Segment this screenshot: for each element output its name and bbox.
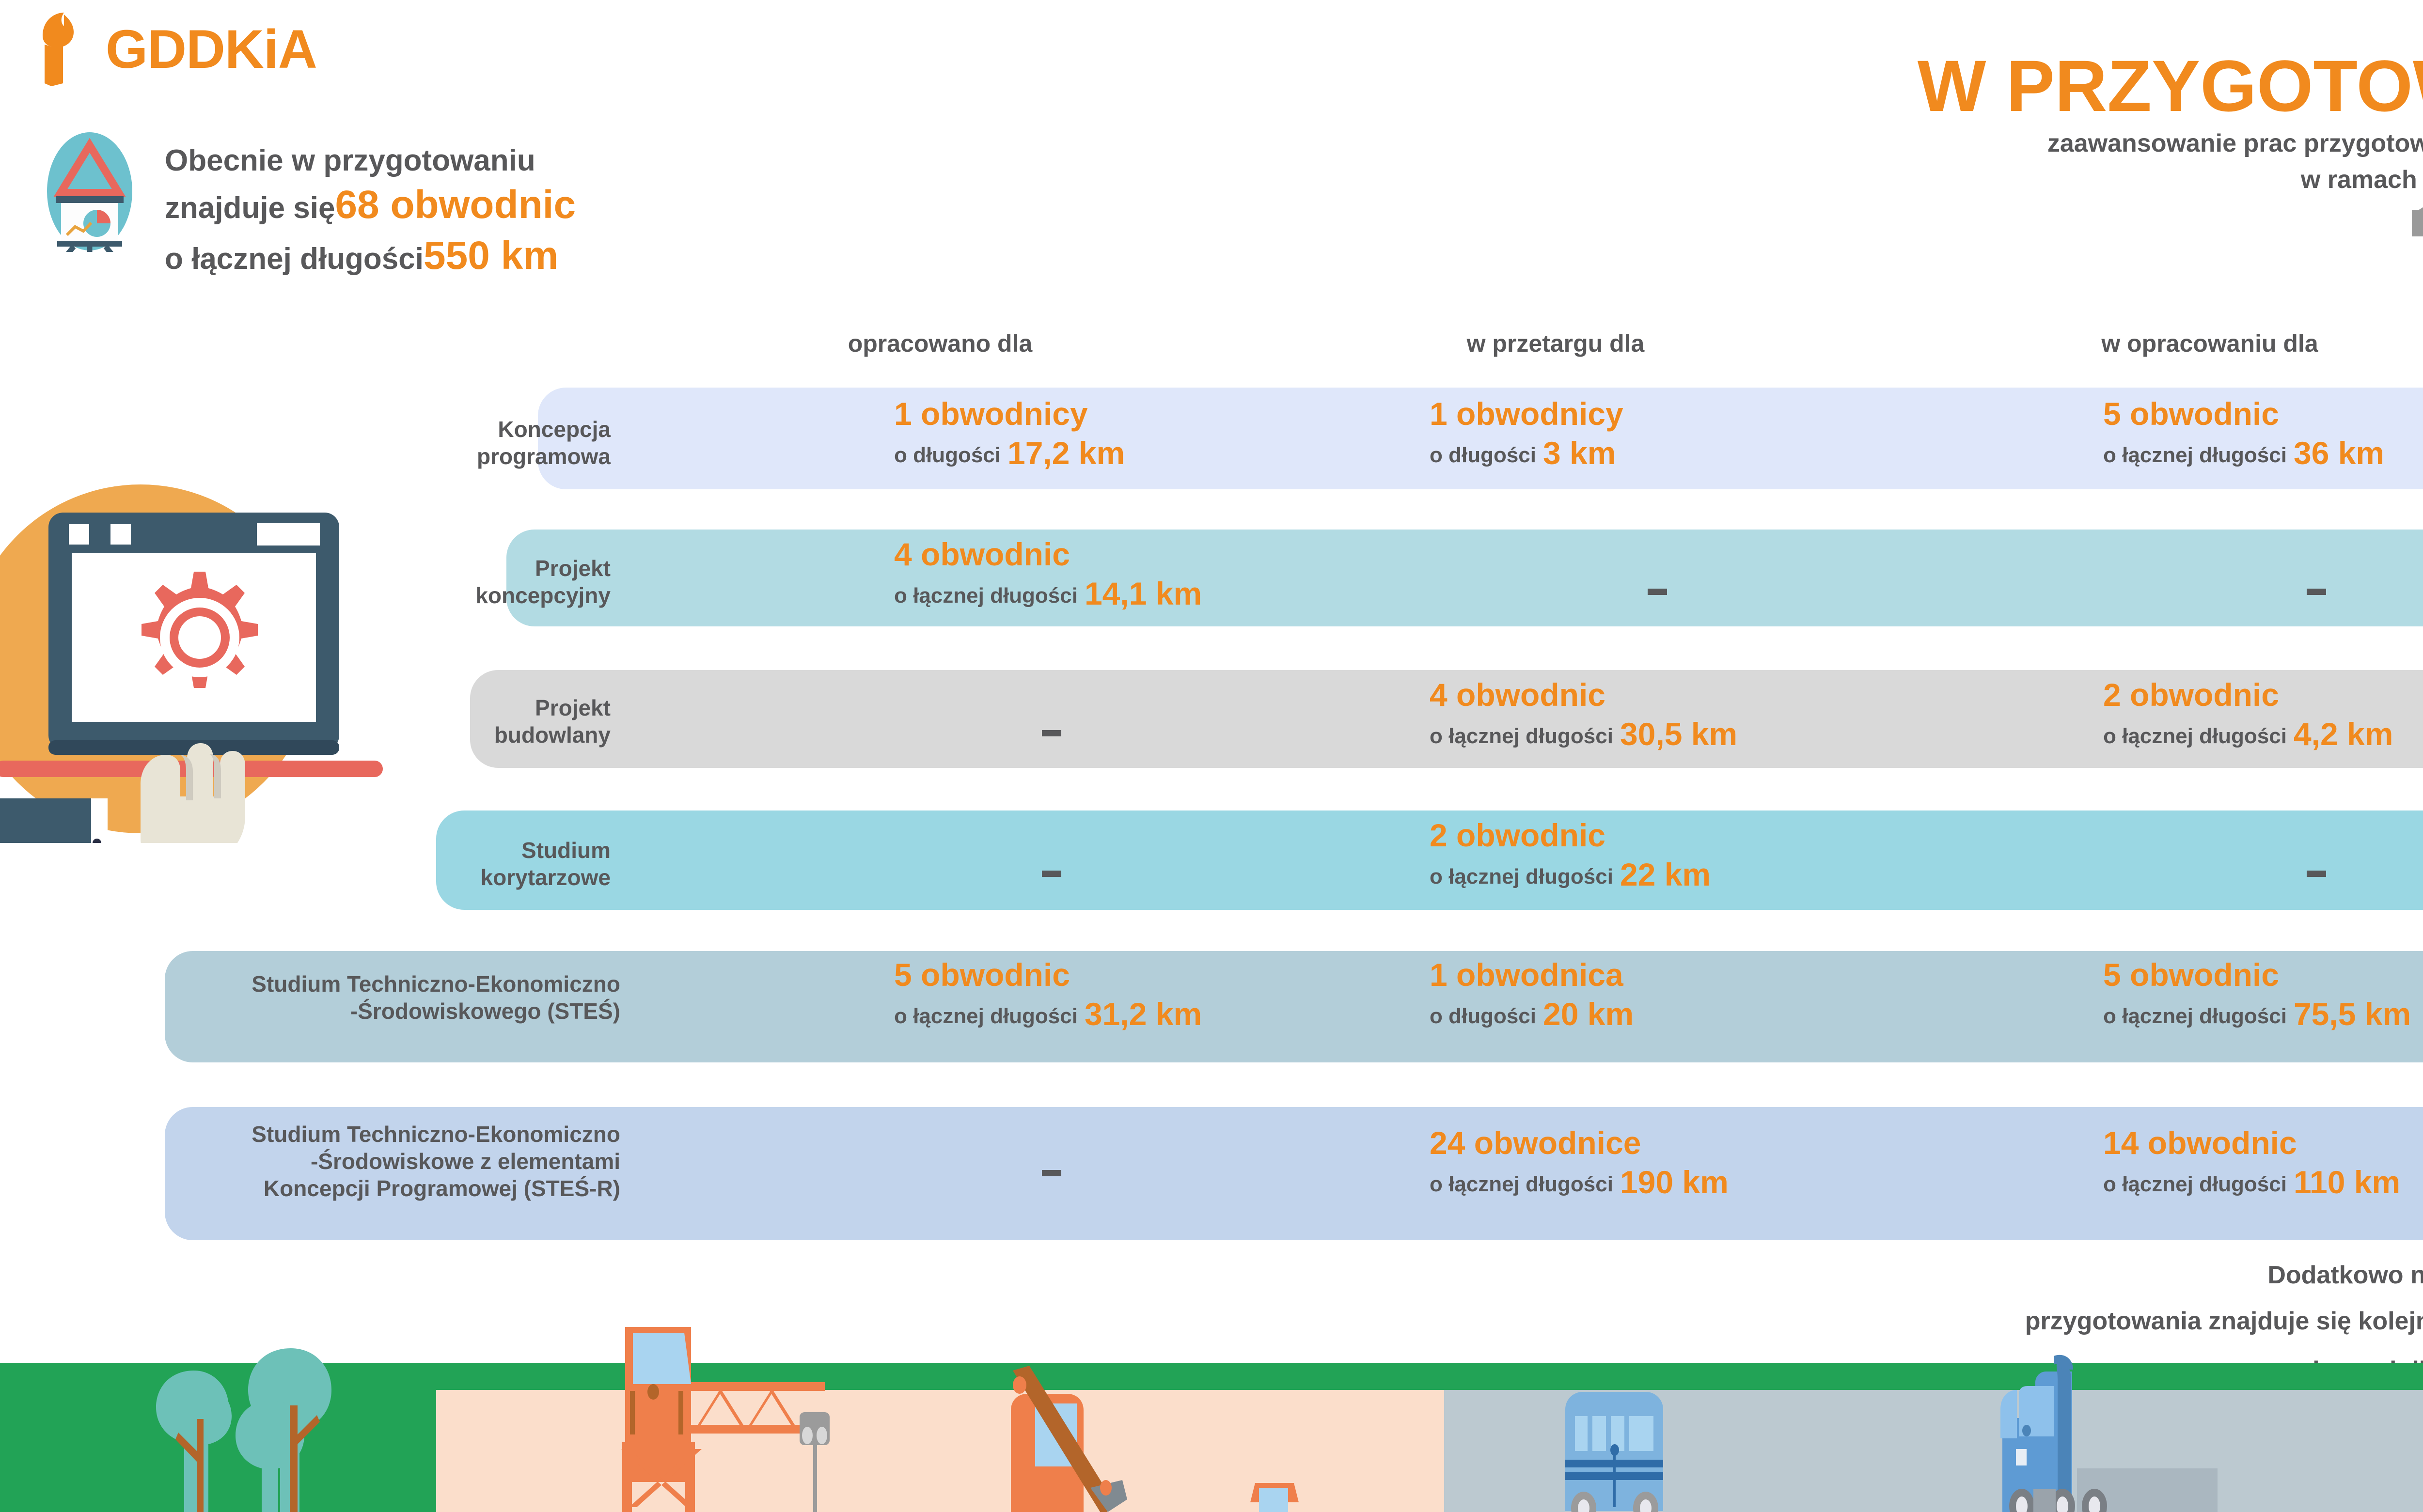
- row-label-stes: Studium Techniczno-Ekonomiczno-Środowisk…: [136, 970, 620, 1025]
- cell-r4c1-empty-dash: [1042, 871, 1061, 877]
- cell-count: 4 obwodnic: [1430, 678, 1737, 712]
- row-label-koncepcja-programowa: Koncepcjaprogramowa: [417, 416, 611, 470]
- cell-count: 5 obwodnic: [894, 958, 1202, 992]
- intro-text-1: Obecnie w przygotowaniu: [165, 144, 535, 177]
- cell-length: o długości17,2 km: [894, 436, 1125, 470]
- presentation-chart-icon: [29, 131, 150, 252]
- footnote-text-1: Dodatkowo na wczesnym etapie: [2267, 1261, 2423, 1289]
- cell-r6c3: 14 obwodnic o łącznej długości110 km: [2103, 1126, 2400, 1200]
- gddkia-eagle-icon: [34, 11, 92, 88]
- cell-count: 1 obwodnicy: [894, 397, 1125, 431]
- cell-count: 5 obwodnic: [2103, 397, 2384, 431]
- cell-length: o łącznej długości30,5 km: [1430, 717, 1737, 751]
- intro-line-3: o łącznej długości 550 km: [165, 231, 576, 281]
- cell-r5c2: 1 obwodnica o długości20 km: [1430, 958, 1634, 1031]
- cell-count: 1 obwodnicy: [1430, 397, 1623, 431]
- bus-icon: [1565, 1392, 1663, 1512]
- title-sub-line-1: zaawansowanie prac przygotowawczych dla …: [1918, 128, 2423, 159]
- intro-line-2: znajduje się 68 obwodnic: [165, 180, 576, 231]
- cell-r2c2-empty-dash: [1648, 589, 1667, 595]
- row-label-studium-korytarzowe: Studiumkorytarzowe: [417, 837, 611, 891]
- one-hundred-icon: [2409, 203, 2423, 238]
- cell-count: 5 obwodnic: [2103, 958, 2411, 992]
- column-header-opracowaniu: w opracowaniu dla: [2016, 329, 2404, 358]
- page-title: ZADANIA W PRZYGOTOWANIU zaawansowanie pr…: [1918, 5, 2423, 238]
- cell-count: 14 obwodnic: [2103, 1126, 2400, 1160]
- footnote-line-1: Dodatkowo na wczesnym etapie: [2025, 1257, 2423, 1294]
- cell-r6c1-empty-dash: [1042, 1170, 1061, 1176]
- cell-r2c1: 4 obwodnic o łącznej długości14,1 km: [894, 538, 1202, 611]
- cell-length: o łącznej długości75,5 km: [2103, 998, 2411, 1031]
- cell-length: o łącznej długości31,2 km: [894, 998, 1202, 1031]
- cell-r1c1: 1 obwodnicy o długości17,2 km: [894, 397, 1125, 470]
- cell-r3c2: 4 obwodnic o łącznej długości30,5 km: [1430, 678, 1737, 751]
- intro-count: 68 obwodnic: [335, 183, 576, 227]
- intro-length: 550 km: [424, 234, 558, 278]
- cell-count: 1 obwodnica: [1430, 958, 1634, 992]
- table-row-band: [506, 530, 2423, 626]
- cell-r4c2: 2 obwodnic o łącznej długości22 km: [1430, 819, 1711, 892]
- cell-r5c1: 5 obwodnic o łącznej długości31,2 km: [894, 958, 1202, 1031]
- column-header-przetarg: w przetargu dla: [1362, 329, 1749, 358]
- cell-count: 4 obwodnic: [894, 538, 1202, 571]
- title-main: W PRZYGOTOWANIU: [1918, 49, 2423, 123]
- cell-r3c3: 2 obwodnic o łącznej długości4,2 km: [2103, 678, 2393, 751]
- cell-r5c3: 5 obwodnic o łącznej długości75,5 km: [2103, 958, 2411, 1031]
- intro-line-1: Obecnie w przygotowaniu: [165, 141, 576, 180]
- title-sub-line-2: w ramach realizacji programu: [1918, 164, 2423, 196]
- cell-r1c3: 5 obwodnic o łącznej długości36 km: [2103, 397, 2384, 470]
- cell-length: o długości3 km: [1430, 436, 1623, 470]
- cell-r2c3-empty-dash: [2307, 589, 2326, 595]
- cell-r3c1-empty-dash: [1042, 730, 1061, 736]
- gddkia-wordmark: GDDKiA: [106, 22, 317, 77]
- cell-r6c2: 24 obwodnice o łącznej długości190 km: [1430, 1126, 1729, 1200]
- column-header-opracowano: opracowano dla: [746, 329, 1134, 358]
- cell-length: o łącznej długości4,2 km: [2103, 717, 2393, 751]
- cell-count: 24 obwodnice: [1430, 1126, 1729, 1160]
- gddkia-logo: GDDKiA: [34, 11, 317, 88]
- cell-length: o łącznej długości190 km: [1430, 1166, 1729, 1199]
- row-label-stes-r: Studium Techniczno-Ekonomiczno-Środowisk…: [136, 1121, 620, 1202]
- program-logo: Obwodnic: [1918, 203, 2423, 238]
- cell-r4c3-empty-dash: [2307, 871, 2326, 877]
- cell-count: 2 obwodnic: [1430, 819, 1711, 852]
- cell-length: o łącznej długości14,1 km: [894, 577, 1202, 610]
- cell-length: o łącznej długości36 km: [2103, 436, 2384, 470]
- intro-block: Obecnie w przygotowaniu znajduje się 68 …: [29, 131, 576, 281]
- laptop-gear-illustration: [0, 475, 470, 843]
- cell-r1c2: 1 obwodnicy o długości3 km: [1430, 397, 1623, 470]
- construction-scene-illustration: [0, 1309, 2423, 1512]
- cell-length: o łącznej długości22 km: [1430, 858, 1711, 891]
- cell-length: o łącznej długości110 km: [2103, 1166, 2400, 1199]
- infographic-root: GDDKiA Obecnie w przygotowaniu znajduje …: [0, 0, 2423, 1512]
- intro-text-2: znajduje się: [165, 191, 335, 225]
- cell-count: 2 obwodnic: [2103, 678, 2393, 712]
- cell-length: o długości20 km: [1430, 998, 1634, 1031]
- intro-text-3: o łącznej długości: [165, 242, 424, 276]
